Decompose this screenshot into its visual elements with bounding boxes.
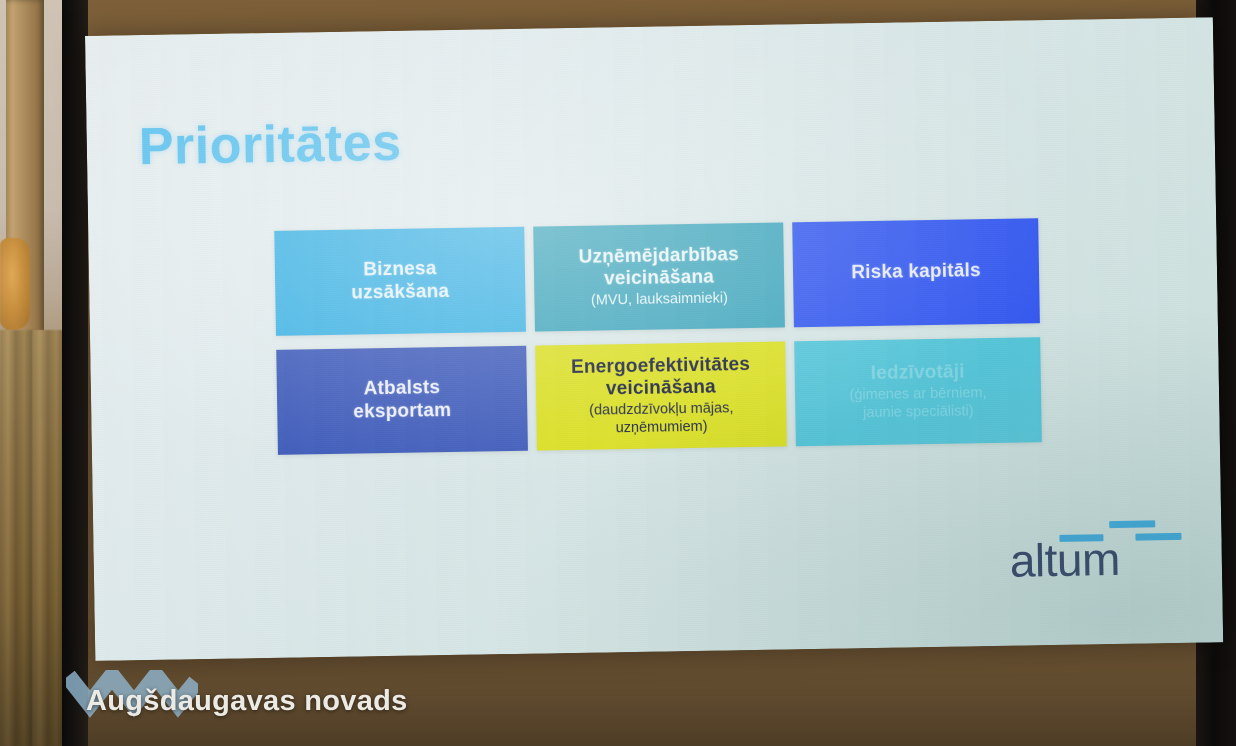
altum-wordmark: altum	[1009, 532, 1120, 588]
priority-card-title: Riska kapitāls	[851, 261, 981, 285]
altum-dash-3	[1135, 533, 1181, 541]
priority-card: Uzņēmējdarbībasveicināšana(MVU, lauksaim…	[533, 222, 785, 331]
projection-screen: Prioritātes BiznesauzsākšanaUzņēmējdarbī…	[85, 17, 1223, 661]
altum-dash-2	[1109, 520, 1155, 528]
priority-card-title: Biznesauzsākšana	[351, 258, 450, 304]
priority-card: Biznesauzsākšana	[274, 227, 526, 336]
priority-card-subtitle: (ģimenes ar bērniem,jaunie speciālisti)	[849, 385, 987, 422]
priority-card: Atbalstseksportam	[276, 346, 528, 455]
caption-text: Augšdaugavas novads	[86, 685, 408, 718]
priority-card: Energoefektivitātesveicināšana(daudzdzīv…	[535, 341, 787, 450]
altum-logo: altum	[1009, 513, 1170, 588]
presentation-slide: Prioritātes BiznesauzsākšanaUzņēmējdarbī…	[85, 17, 1223, 661]
priority-card-subtitle: (MVU, lauksaimnieki)	[591, 290, 728, 310]
priority-card-title: Energoefektivitātesveicināšana	[571, 354, 751, 401]
broadcast-caption: Augšdaugavas novads	[58, 674, 408, 728]
slide-title: Prioritātes	[138, 113, 402, 177]
priority-card: Iedzīvotāji(ģimenes ar bērniem,jaunie sp…	[794, 337, 1042, 446]
priority-card-subtitle: (daudzdzīvokļu mājas,uzņēmumiem)	[589, 400, 734, 437]
priorities-grid: BiznesauzsākšanaUzņēmējdarbībasveicināša…	[274, 218, 1046, 455]
priority-card-title: Atbalstseksportam	[353, 377, 452, 423]
door-handle	[0, 238, 30, 330]
screen-bezel-left	[62, 0, 88, 746]
priority-card-title: Uzņēmējdarbībasveicināšana	[578, 244, 739, 291]
room-photo: Prioritātes BiznesauzsākšanaUzņēmējdarbī…	[0, 0, 1236, 746]
priority-card: Riska kapitāls	[792, 218, 1040, 327]
priority-card-title: Iedzīvotāji	[871, 362, 965, 386]
curtain-shading	[0, 330, 64, 746]
